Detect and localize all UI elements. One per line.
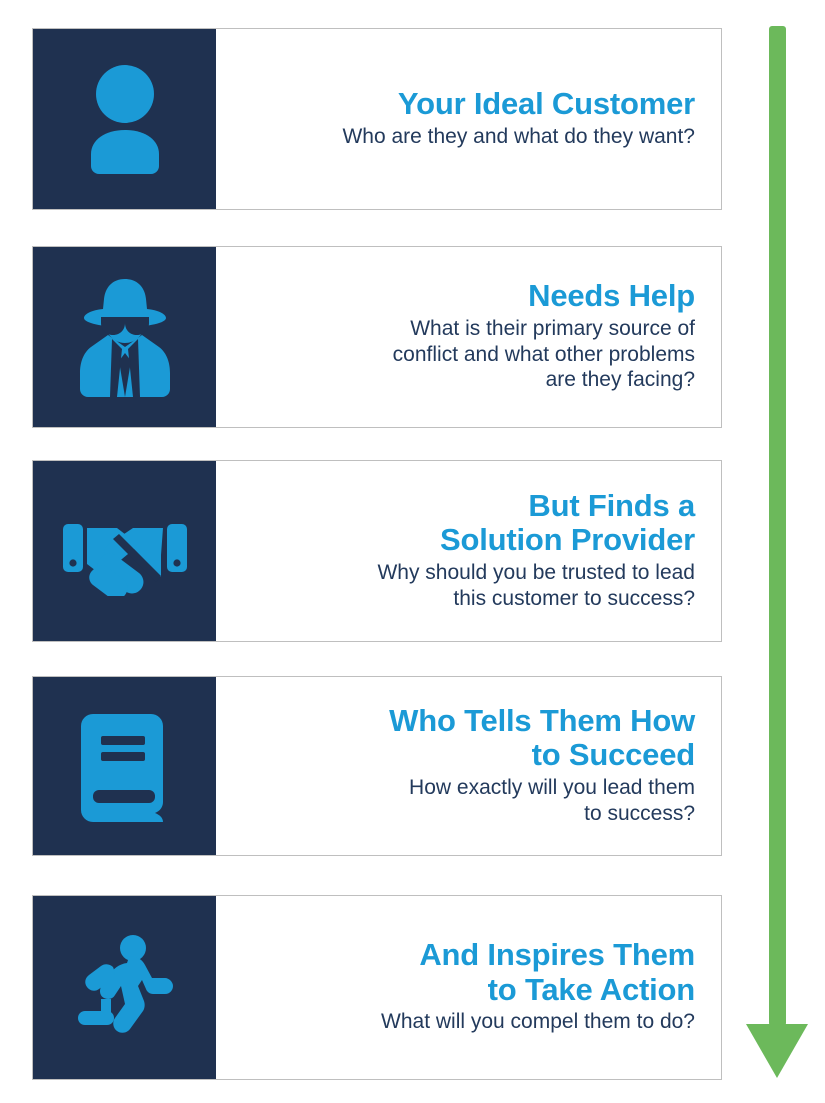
person-icon [77,64,173,174]
card-description-1: Who are they and what do they want? [342,124,695,150]
card-title-2: Needs Help [528,279,695,314]
card-content-2: Needs Help What is their primary source … [216,247,721,427]
infographic-canvas: Your Ideal Customer Who are they and wha… [0,0,825,1103]
icon-panel-4 [33,677,216,855]
card-content-4: Who Tells Them How to Succeed How exactl… [216,677,721,855]
card-title-3: But Finds a Solution Provider [440,489,695,558]
card-description-4: How exactly will you lead them to succes… [409,775,695,826]
detective-icon [72,275,178,399]
icon-panel-1 [33,29,216,209]
downward-process-arrow [744,26,810,1080]
card-description-3: Why should you be trusted to lead this c… [377,560,695,611]
running-person-icon [75,933,175,1043]
process-step-card-5[interactable]: And Inspires Them to Take Action What wi… [32,895,722,1080]
card-title-4: Who Tells Them How to Succeed [389,704,695,773]
card-title-1: Your Ideal Customer [398,87,695,122]
process-step-card-4[interactable]: Who Tells Them How to Succeed How exactl… [32,676,722,856]
card-description-5: What will you compel them to do? [381,1009,695,1035]
icon-panel-5 [33,896,216,1079]
handshake-icon [61,506,189,596]
process-step-card-3[interactable]: But Finds a Solution Provider Why should… [32,460,722,642]
book-icon [79,710,171,822]
icon-panel-3 [33,461,216,641]
card-content-5: And Inspires Them to Take Action What wi… [216,896,721,1079]
card-content-1: Your Ideal Customer Who are they and wha… [216,29,721,209]
process-step-card-2[interactable]: Needs Help What is their primary source … [32,246,722,428]
icon-panel-2 [33,247,216,427]
card-content-3: But Finds a Solution Provider Why should… [216,461,721,641]
process-step-card-1[interactable]: Your Ideal Customer Who are they and wha… [32,28,722,210]
card-description-2: What is their primary source of conflict… [393,316,695,393]
card-title-5: And Inspires Them to Take Action [419,938,695,1007]
